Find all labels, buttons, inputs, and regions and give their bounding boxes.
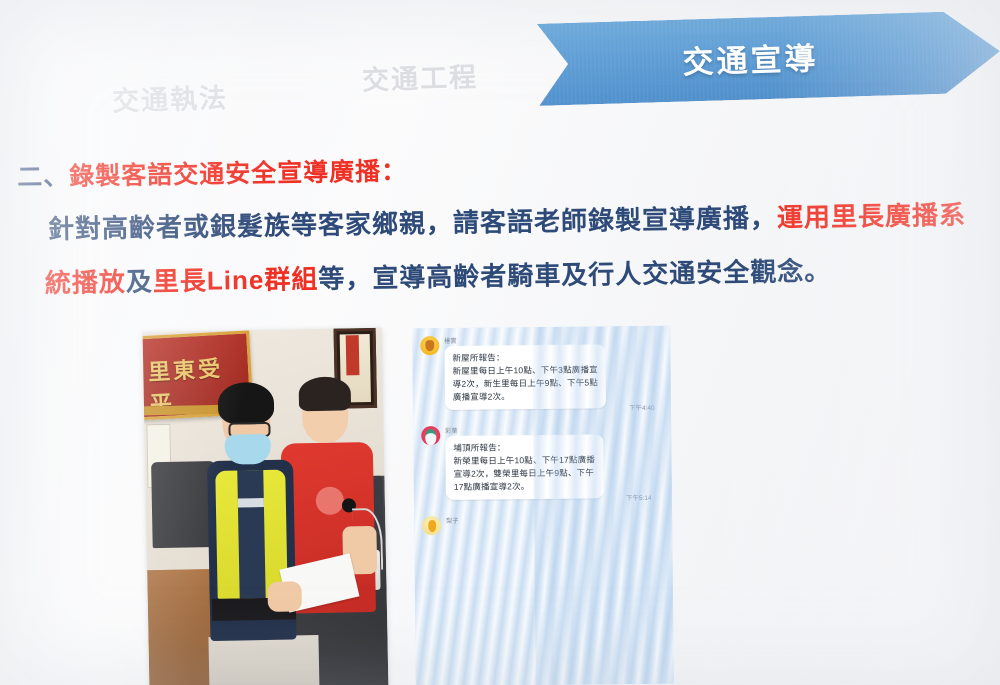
chat-line: 宣導2次，雙榮里每日上午9點、下午	[454, 466, 596, 480]
body-line3-normal-2: 等，宣導高齡者騎車及行人交通安全觀念。	[318, 256, 831, 294]
tab-traffic-promotion[interactable]: 交通宣導	[537, 10, 1000, 106]
chat-timestamp: 下午5:14	[626, 492, 652, 502]
tab-traffic-enforcement[interactable]: 交通執法	[111, 76, 228, 118]
photo-floor	[208, 635, 319, 685]
acorn-avatar[interactable]	[420, 336, 439, 355]
body-line2-accent: 運用里長廣播系	[777, 200, 966, 233]
chat-sender-name: 梨子	[446, 516, 459, 525]
chat-sender-name: 彩葉	[445, 426, 458, 435]
photo-officer-face-mask	[225, 434, 272, 465]
chat-timestamp: 下午4:40	[629, 402, 655, 412]
chat-sender-name: 椿實	[444, 336, 457, 345]
photo-officer-reflective-strip	[238, 498, 264, 507]
body-line-2: 針對高齡者或銀髮族等客家鄉親，請客語老師錄製宣導廣播，運用里長廣播系	[48, 194, 1000, 249]
body-line-3: 統播放及里長Line群組等，宣導高齡者騎車及行人交通安全觀念。	[45, 248, 1000, 303]
photo-officer-hair	[218, 382, 275, 425]
photo-officer-vest-panel	[237, 470, 265, 598]
chat-line: 17點廣播宣導2次。	[454, 479, 596, 493]
chat-bubble: 新屋所報告： 新屋里每日上午10點、下午3點廣播宣 導2次，新生里每日上午9點、…	[444, 344, 606, 410]
chat-line: 導2次，新生里每日上午9點、下午5點	[453, 376, 598, 391]
heading-text: 錄製客語交通安全宣導廣播：	[69, 157, 407, 190]
chat-line: 廣播宣導2次。	[453, 389, 598, 404]
pink-avatar[interactable]	[421, 426, 440, 445]
yellow-avatar[interactable]	[422, 516, 441, 535]
body-line-1: 二、錄製客語交通安全宣導廣播：	[17, 144, 999, 195]
body-line3-accent-2: 里長Line群組	[153, 264, 319, 297]
photo-frame-red-banner	[346, 335, 360, 375]
heading-marker: 二、	[17, 163, 69, 192]
slide-body-text: 二、錄製客語交通安全宣導廣播： 針對高齡者或銀髮族等客家鄉親，請客語老師錄製宣導…	[0, 144, 1000, 304]
tab-traffic-engineering[interactable]: 交通工程	[361, 55, 478, 97]
presentation-slide: 交通執法 交通工程 交通宣導 二、錄製客語交通安全宣導廣播： 針對高齡者或銀髮族…	[0, 0, 1000, 685]
line-chat-screenshot: 椿實 新屋所報告： 新屋里每日上午10點、下午3點廣播宣 導2次，新生里每日上午…	[412, 326, 674, 685]
body-line3-normal-1: 及	[126, 266, 153, 296]
photo-man-hair	[298, 376, 351, 411]
promotion-photo: 里東受平	[143, 328, 389, 685]
body-line2-normal: 針對高齡者或銀髮族等客家鄉親，請客語老師錄製宣導廣播，	[48, 203, 777, 244]
photo-officer-hand	[267, 581, 302, 612]
body-line3-accent-1: 統播放	[45, 267, 126, 298]
chat-bubble: 埔頂所報告： 新榮里每日上午10點、下午17點廣播 宣導2次，雙榮里每日上午9點…	[445, 434, 603, 500]
